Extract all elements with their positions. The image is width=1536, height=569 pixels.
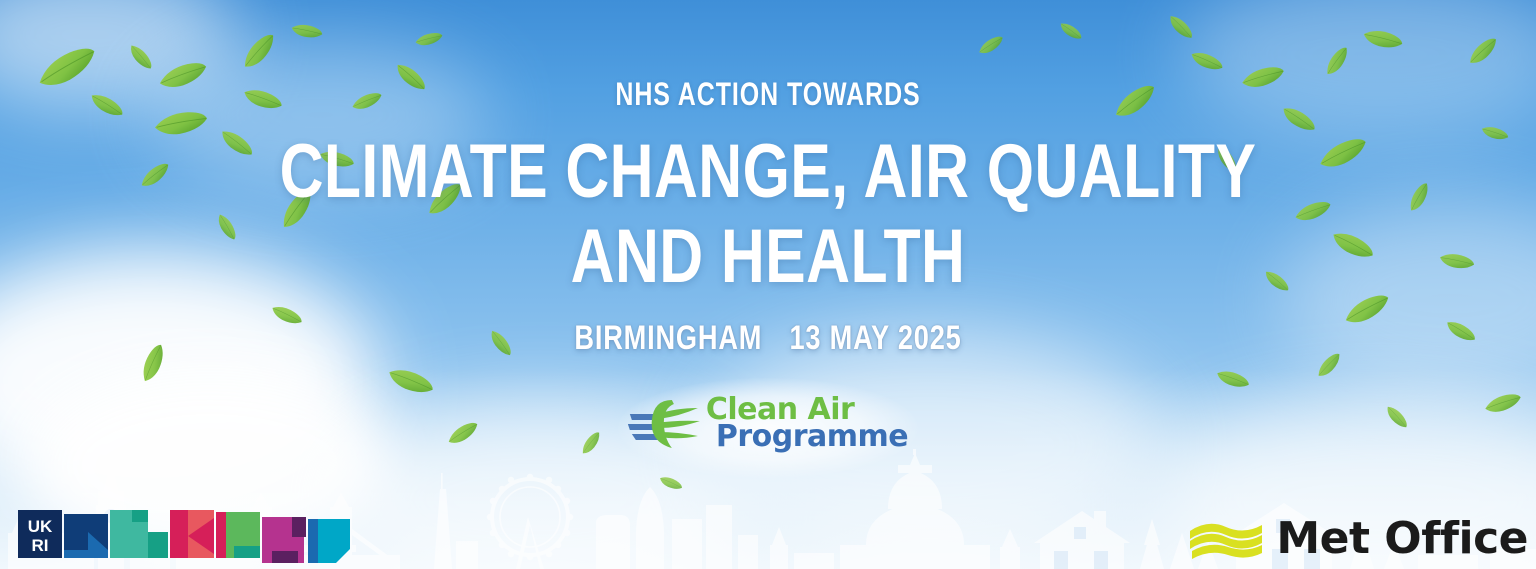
met-office-text: Met Office: [1276, 517, 1528, 561]
church-icon-2: [1000, 529, 1020, 569]
church-icon-1: [770, 527, 788, 569]
met-office-waves-icon: [1188, 517, 1266, 561]
ukri-logo[interactable]: UK RI: [18, 510, 268, 563]
low-block-4: [794, 553, 834, 569]
leaf-icon: [1188, 47, 1226, 75]
green-block-2: [148, 532, 168, 558]
leaf-icon: [1464, 34, 1501, 69]
met-office-logo[interactable]: Met Office: [1188, 517, 1528, 561]
crimson-edge: [216, 512, 226, 558]
leaf-icon: [414, 30, 444, 48]
city-tower-1: [672, 519, 702, 569]
leaf-icon: [126, 41, 155, 73]
green-foot: [234, 546, 260, 558]
gherkin-icon: [636, 487, 664, 569]
leaf-icon: [1166, 11, 1196, 43]
blue-edge: [308, 519, 318, 563]
banner-headline-line1: CLIMATE CHANGE, AIR QUALITY: [154, 132, 1383, 213]
ukri-logo-svg-right: [262, 515, 382, 563]
teal-block-2: [132, 522, 148, 558]
city-tower-2: [706, 505, 732, 569]
crimson-block: [170, 510, 188, 558]
leaf-icon: [290, 21, 325, 42]
event-banner: NHS ACTION TOWARDS CLIMATE CHANGE, AIR Q…: [0, 0, 1536, 569]
banner-dateline: BIRMINGHAM13 MAY 2025: [154, 321, 1383, 355]
banner-headline-line2: AND HEALTH: [154, 217, 1383, 298]
event-date: 13 MAY 2025: [789, 319, 961, 357]
leaf-icon: [976, 33, 1007, 58]
london-eye-icon: [487, 474, 573, 569]
ukri-lettermark-uk: UK: [28, 517, 53, 536]
programme-text: Programme: [716, 422, 908, 452]
ukri-logo-svg: UK RI: [18, 510, 268, 558]
banner-kicker: NHS ACTION TOWARDS: [169, 78, 1367, 110]
clean-air-swoosh-icon: [628, 392, 702, 454]
city-tower-3: [738, 535, 758, 569]
shard-icon: [434, 473, 452, 569]
purple-block: [292, 517, 306, 537]
teal-block: [110, 510, 132, 558]
ukri-lettermark-ri: RI: [32, 536, 49, 555]
banner-text: NHS ACTION TOWARDS CLIMATE CHANGE, AIR Q…: [0, 78, 1536, 355]
green-block: [132, 510, 148, 522]
low-block-3: [456, 541, 478, 569]
purple-foot: [272, 551, 298, 563]
house-icon-1: [1034, 511, 1130, 569]
leaf-icon: [1057, 19, 1084, 44]
leaf-icon: [1321, 43, 1353, 78]
clean-air-programme-logo[interactable]: Clean Air Programme: [628, 392, 908, 454]
leaf-icon: [1361, 25, 1405, 53]
walkie-talkie-icon: [596, 515, 630, 569]
event-location: BIRMINGHAM: [574, 319, 762, 357]
st-pauls-icon: [840, 449, 990, 569]
leaf-icon: [237, 29, 280, 73]
